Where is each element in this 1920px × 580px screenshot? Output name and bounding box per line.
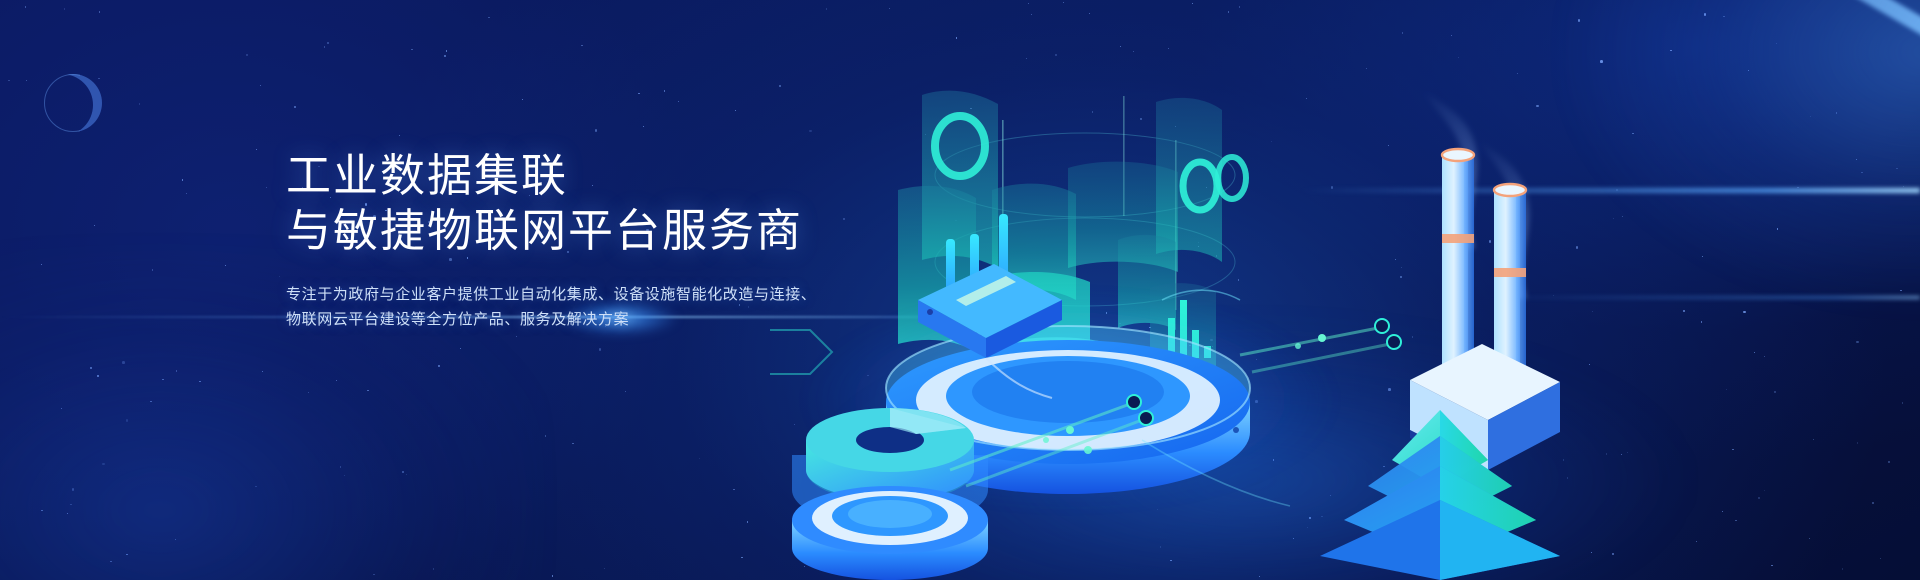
star-dot bbox=[638, 93, 639, 94]
star-dot bbox=[625, 391, 626, 392]
star-dot bbox=[444, 55, 445, 56]
star-dot bbox=[175, 539, 176, 540]
star-dot bbox=[1810, 116, 1811, 117]
star-dot bbox=[438, 365, 439, 366]
star-dot bbox=[279, 276, 280, 277]
star-dot bbox=[595, 129, 598, 132]
star-dot bbox=[324, 46, 325, 47]
star-dot bbox=[1777, 228, 1778, 229]
star-dot bbox=[446, 50, 447, 51]
star-dot bbox=[488, 17, 489, 18]
star-dot bbox=[176, 370, 177, 371]
star-dot bbox=[327, 42, 330, 45]
star-dot bbox=[1797, 187, 1798, 188]
star-dot bbox=[61, 408, 62, 409]
star-dot bbox=[340, 466, 341, 467]
star-dot bbox=[8, 80, 9, 81]
isometric-illustration bbox=[770, 0, 1770, 580]
star-dot bbox=[1809, 538, 1810, 539]
star-dot bbox=[1872, 502, 1875, 505]
star-dot bbox=[70, 504, 71, 505]
star-dot bbox=[199, 381, 200, 382]
star-dot bbox=[182, 179, 183, 180]
star-dot bbox=[699, 458, 700, 459]
star-dot bbox=[741, 557, 742, 558]
star-dot bbox=[581, 45, 582, 46]
star-dot bbox=[26, 80, 27, 81]
star-dot bbox=[1774, 391, 1775, 392]
star-dot bbox=[1771, 565, 1772, 566]
star-dot bbox=[90, 367, 91, 368]
star-dot bbox=[162, 379, 163, 380]
star-dot bbox=[1836, 112, 1837, 113]
star-dot bbox=[399, 135, 400, 136]
star-dot bbox=[1903, 186, 1904, 187]
star-dot bbox=[1900, 290, 1901, 291]
star-dot bbox=[99, 11, 100, 12]
star-dot bbox=[572, 443, 573, 444]
star-dot bbox=[152, 269, 153, 270]
star-dot bbox=[336, 380, 337, 381]
star-dot bbox=[225, 265, 226, 266]
star-dot bbox=[1856, 341, 1859, 344]
star-dot bbox=[67, 513, 68, 514]
star-dot bbox=[126, 419, 129, 422]
star-dot bbox=[262, 371, 263, 372]
star-dot bbox=[266, 187, 267, 188]
star-dot bbox=[94, 225, 95, 226]
star-dot bbox=[735, 110, 736, 111]
star-dot bbox=[344, 475, 345, 476]
star-dot bbox=[102, 463, 105, 466]
star-dot bbox=[1902, 402, 1903, 403]
star-dot bbox=[1857, 442, 1858, 443]
star-dot bbox=[246, 54, 247, 55]
star-dot bbox=[552, 575, 553, 576]
star-dot bbox=[186, 193, 187, 194]
star-dot bbox=[255, 486, 256, 487]
star-dot bbox=[110, 561, 111, 562]
star-dot bbox=[72, 488, 75, 491]
hero-banner: 工业数据集联 与敏捷物联网平台服务商 专注于为政府与企业客户提供工业自动化集成、… bbox=[0, 0, 1920, 580]
star-dot bbox=[1880, 558, 1881, 559]
star-dot bbox=[1888, 461, 1889, 462]
star-dot bbox=[411, 49, 412, 50]
star-dot bbox=[64, 8, 65, 9]
star-dot bbox=[604, 568, 605, 569]
star-dot bbox=[41, 264, 42, 265]
star-dot bbox=[97, 375, 98, 376]
star-dot bbox=[406, 474, 407, 475]
star-dot bbox=[260, 85, 261, 86]
star-dot bbox=[460, 348, 461, 349]
star-dot bbox=[1856, 159, 1857, 160]
star-dot bbox=[294, 106, 297, 109]
star-dot bbox=[1861, 172, 1862, 173]
star-dot bbox=[733, 489, 734, 490]
star-dot bbox=[545, 435, 546, 436]
star-dot bbox=[747, 521, 748, 522]
star-dot bbox=[126, 554, 127, 555]
star-dot bbox=[41, 510, 42, 511]
star-dot bbox=[122, 361, 125, 364]
donut-chart-cylinder bbox=[792, 408, 988, 580]
star-dot bbox=[433, 568, 434, 569]
star-dot bbox=[1776, 43, 1777, 44]
star-dot bbox=[678, 101, 679, 102]
star-dot bbox=[139, 103, 140, 104]
star-dot bbox=[643, 126, 644, 127]
star-dot bbox=[516, 336, 517, 337]
star-dot bbox=[1813, 439, 1814, 440]
star-dot bbox=[98, 78, 99, 79]
star-dot bbox=[308, 392, 309, 393]
star-dot bbox=[664, 90, 665, 91]
star-dot bbox=[599, 348, 602, 351]
star-dot bbox=[373, 574, 374, 575]
crescent-moon-icon bbox=[44, 74, 102, 132]
star-dot bbox=[256, 149, 257, 150]
star-dot bbox=[1842, 568, 1843, 569]
star-dot bbox=[367, 390, 368, 391]
star-dot bbox=[1896, 168, 1897, 169]
star-dot bbox=[150, 401, 151, 402]
star-dot bbox=[522, 99, 523, 100]
star-dot bbox=[25, 6, 26, 7]
star-dot bbox=[402, 471, 405, 474]
